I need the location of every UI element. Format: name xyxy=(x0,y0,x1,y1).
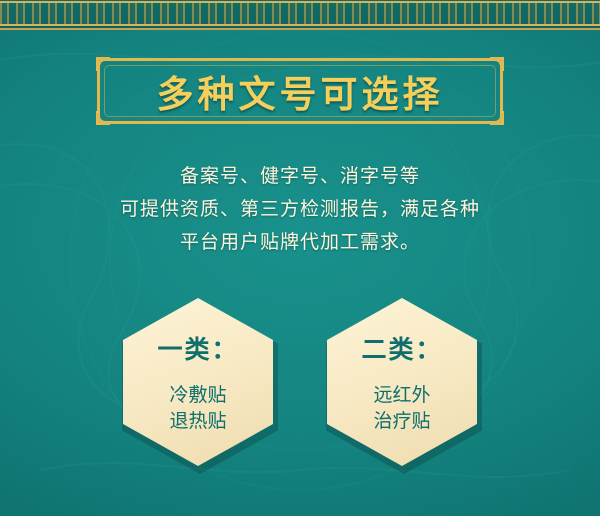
body-paragraph: 备案号、健字号、消字号等 可提供资质、第三方检测报告，满足各种 平台用户贴牌代加… xyxy=(30,160,570,259)
page-title: 多种文号可选择 xyxy=(157,64,444,118)
poster-canvas: 多种文号可选择 备案号、健字号、消字号等 可提供资质、第三方检测报告，满足各种 … xyxy=(0,0,600,516)
badge-left-items: 冷敷贴 退热贴 xyxy=(169,382,226,434)
badge-right-items: 远红外 治疗贴 xyxy=(373,382,430,434)
plaque-corner-bottom-right xyxy=(490,111,504,125)
border-line-bottom xyxy=(0,24,600,26)
top-ornamental-border xyxy=(0,0,600,30)
plaque-corner-bottom-left xyxy=(96,111,110,125)
body-line-1: 备案号、健字号、消字号等 xyxy=(30,160,570,193)
badge-right-item-1: 远红外 xyxy=(373,382,430,408)
body-line-2: 可提供资质、第三方检测报告，满足各种 xyxy=(30,193,570,226)
badge-right-heading: 二类： xyxy=(361,330,442,366)
badge-right-item-2: 治疗贴 xyxy=(373,408,430,434)
badge-left-heading: 一类： xyxy=(157,330,238,366)
plaque-corner-top-right xyxy=(490,57,504,71)
border-pattern xyxy=(0,3,600,25)
badge-left-item-2: 退热贴 xyxy=(169,408,226,434)
badge-left-item-1: 冷敷贴 xyxy=(169,382,226,408)
body-line-3: 平台用户贴牌代加工需求。 xyxy=(30,226,570,259)
plaque-corner-top-left xyxy=(96,57,110,71)
title-plaque: 多种文号可选择 xyxy=(97,58,503,124)
